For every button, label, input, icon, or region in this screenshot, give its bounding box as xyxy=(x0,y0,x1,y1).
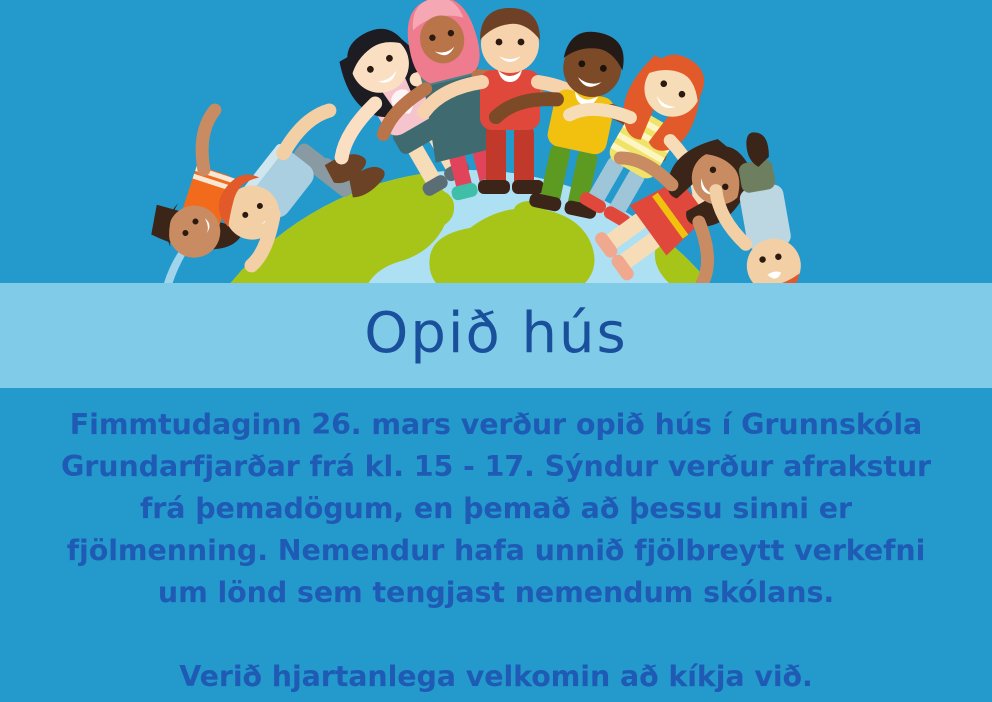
body-text-area: Fimmtudaginn 26. mars verður opið hús í … xyxy=(0,388,992,702)
illustration-children-around-globe xyxy=(0,0,992,283)
page-title: Opið hús xyxy=(364,306,627,366)
title-band: Opið hús xyxy=(0,283,992,388)
body-paragraph-2: Verið hjartanlega velkomin að kíkja við. xyxy=(56,656,936,698)
globe-and-children-graphic xyxy=(0,0,992,283)
body-paragraph-1: Fimmtudaginn 26. mars verður opið hús í … xyxy=(56,404,936,614)
poster-root: Opið hús Fimmtudaginn 26. mars verður op… xyxy=(0,0,992,702)
